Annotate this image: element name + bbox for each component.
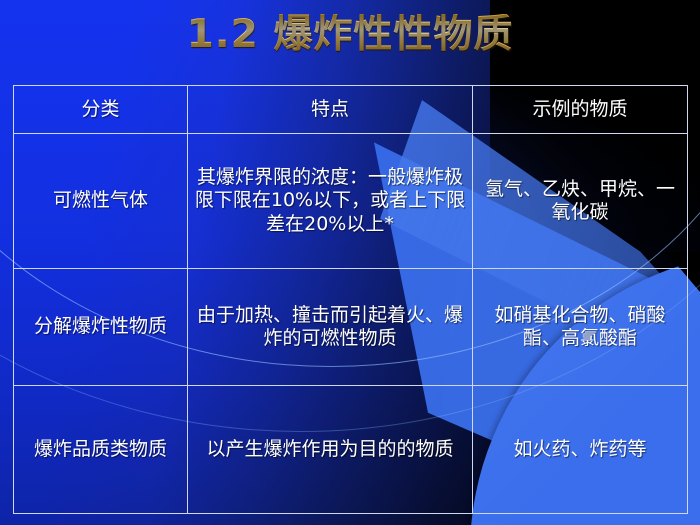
table-row: 爆炸品质类物质 以产生爆炸作用为目的的物质 如火药、炸药等 — [14, 386, 688, 514]
cell-features: 由于加热、撞击而引起着火、爆炸的可燃性物质 — [188, 269, 473, 386]
slide-canvas: 1.2 爆炸性性物质 分类 特点 示例的物质 可燃性气体 其爆炸界限的浓度：一般… — [0, 0, 700, 525]
content-table-wrapper: 分类 特点 示例的物质 可燃性气体 其爆炸界限的浓度：一般爆炸极限下限在10%以… — [13, 85, 687, 513]
cell-features: 以产生爆炸作用为目的的物质 — [188, 386, 473, 514]
content-table: 分类 特点 示例的物质 可燃性气体 其爆炸界限的浓度：一般爆炸极限下限在10%以… — [13, 85, 688, 514]
cell-examples: 如火药、炸药等 — [473, 386, 688, 514]
slide-title: 1.2 爆炸性性物质 — [0, 14, 700, 56]
cell-category: 可燃性气体 — [14, 134, 188, 269]
cell-category: 爆炸品质类物质 — [14, 386, 188, 514]
table-row: 分解爆炸性物质 由于加热、撞击而引起着火、爆炸的可燃性物质 如硝基化合物、硝酸酯… — [14, 269, 688, 386]
cell-category: 分解爆炸性物质 — [14, 269, 188, 386]
table-header-row: 分类 特点 示例的物质 — [14, 86, 688, 134]
cell-features: 其爆炸界限的浓度：一般爆炸极限下限在10%以下，或者上下限差在20%以上* — [188, 134, 473, 269]
table-row: 可燃性气体 其爆炸界限的浓度：一般爆炸极限下限在10%以下，或者上下限差在20%… — [14, 134, 688, 269]
header-cell-category: 分类 — [14, 86, 188, 134]
cell-examples: 氢气、乙炔、甲烷、一氧化碳 — [473, 134, 688, 269]
header-cell-features: 特点 — [188, 86, 473, 134]
header-cell-examples: 示例的物质 — [473, 86, 688, 134]
cell-examples: 如硝基化合物、硝酸酯、高氯酸酯 — [473, 269, 688, 386]
